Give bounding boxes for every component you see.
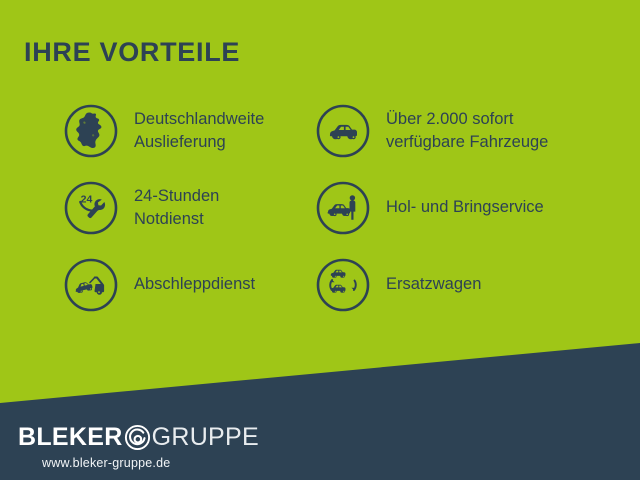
benefit-item-abschleppdienst: Abschleppdienst	[0, 246, 258, 323]
svg-text:24: 24	[81, 193, 93, 205]
germany-map-icon	[62, 102, 120, 160]
tow-truck-icon	[62, 256, 120, 314]
benefit-label: Hol- und Bringservice	[386, 196, 544, 218]
website-url: www.bleker-gruppe.de	[42, 456, 248, 470]
page-title: IHRE VORTEILE	[24, 37, 240, 68]
24-hour-wrench-icon: 24	[62, 179, 120, 237]
benefit-row: Abschleppdienst	[0, 246, 640, 323]
benefit-label: Ersatzwagen	[386, 273, 481, 295]
car-with-person-icon	[314, 179, 372, 237]
benefit-row: Deutschlandweite Auslieferung Über 2.000…	[0, 92, 640, 169]
benefit-label: 24-Stunden Notdienst	[134, 185, 219, 230]
two-cars-exchange-icon	[314, 256, 372, 314]
logo-wordmark: BLEKER GRUPPE	[18, 421, 248, 453]
logo-name-bold: BLEKER	[18, 425, 123, 450]
benefit-item-ersatzwagen: Ersatzwagen	[258, 246, 640, 323]
benefit-item-hol-und-bringservice: Hol- und Bringservice	[258, 169, 640, 246]
car-icon	[314, 102, 372, 160]
benefits-list: Deutschlandweite Auslieferung Über 2.000…	[0, 92, 640, 323]
logo-name-light: GRUPPE	[152, 425, 259, 450]
benefit-label: Abschleppdienst	[134, 273, 255, 295]
benefit-item-24-stunden-notdienst: 24 24-Stunden Notdienst	[0, 169, 258, 246]
benefit-row: 24 24-Stunden Notdienst	[0, 169, 640, 246]
company-logo: BLEKER GRUPPE www.bleker-gruppe.de	[18, 421, 248, 470]
benefit-label: Über 2.000 sofort verfügbare Fahrzeuge	[386, 108, 548, 153]
benefit-item-verfuegbare-fahrzeuge: Über 2.000 sofort verfügbare Fahrzeuge	[258, 92, 640, 169]
spiral-circle-logo-icon	[124, 424, 151, 451]
benefit-label: Deutschlandweite Auslieferung	[134, 108, 264, 153]
benefit-item-deutschlandweite-auslieferung: Deutschlandweite Auslieferung	[0, 92, 258, 169]
advantages-slide: IHRE VORTEILE Deutschlandweite Ausliefer…	[0, 0, 640, 480]
